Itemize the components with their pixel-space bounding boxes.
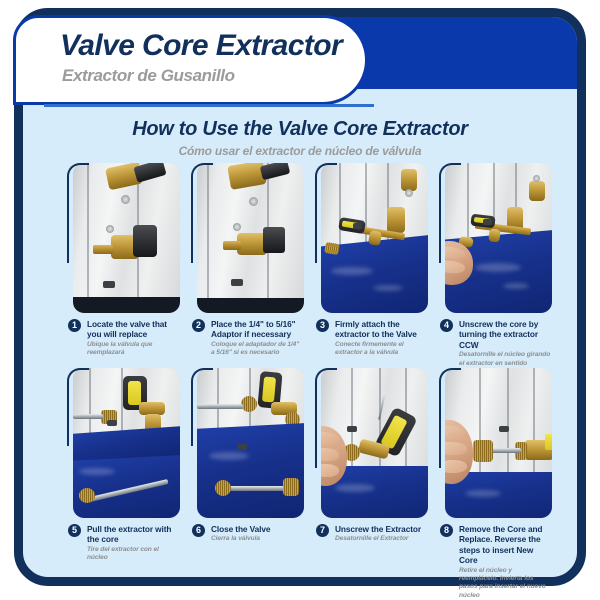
step-5-photo — [73, 368, 180, 518]
photo-scene-pull-extractor — [73, 368, 180, 518]
step-5: 5 Pull the extractor with the core Tire … — [67, 368, 180, 570]
step-8-number: 8 — [440, 524, 453, 537]
step-7-photo-wrap — [315, 368, 428, 518]
step-5-text-es: Tire del extractor con el núcleo — [87, 546, 180, 562]
step-6-photo-wrap — [191, 368, 304, 518]
page-title-spanish: Extractor de Gusanillo — [62, 66, 235, 86]
step-8-caption: 8 Remove the Core and Replace. Reverse t… — [439, 524, 552, 600]
photo-scene-attach-extractor — [321, 163, 428, 313]
step-4: 4 Unscrew the core by turning the extrac… — [439, 163, 552, 376]
step-6-text-es: Cierra la válvula — [211, 535, 304, 543]
step-2: 2 Place the 1/4" to 5/16" Adaptor if nec… — [191, 163, 304, 365]
section-heading: How to Use the Valve Core Extractor — [23, 118, 577, 141]
step-5-text-en: Pull the extractor with the core — [87, 524, 180, 545]
photo-scene-adaptor — [197, 163, 304, 313]
step-3-text-en: Firmly attach the extractor to the Valve — [335, 319, 428, 340]
step-6-text-en: Close the Valve — [211, 524, 304, 534]
step-1-caption: 1 Locate the valve that you will replace… — [67, 319, 180, 365]
step-5-photo-wrap — [67, 368, 180, 518]
step-6-number: 6 — [192, 524, 205, 537]
step-7-text-en: Unscrew the Extractor — [335, 524, 428, 534]
photo-scene-unscrew-extractor — [321, 368, 428, 518]
step-4-photo — [445, 163, 552, 313]
step-8-photo-wrap — [439, 368, 552, 518]
step-1-text-es: Ubique la válvula que reemplazará — [87, 341, 180, 357]
step-4-photo-wrap — [439, 163, 552, 313]
step-6-caption: 6 Close the Valve Cierra la válvula — [191, 524, 304, 570]
step-3-photo — [321, 163, 428, 313]
step-1-photo-wrap — [67, 163, 180, 313]
step-4-text-en: Unscrew the core by turning the extracto… — [459, 319, 552, 350]
step-2-number: 2 — [192, 319, 205, 332]
step-8-text-es: Retire el núcleo y reemplácelo. Invierta… — [459, 567, 552, 600]
step-2-photo — [197, 163, 304, 313]
photo-scene-remove-core — [445, 368, 552, 518]
step-1: 1 Locate the valve that you will replace… — [67, 163, 180, 365]
step-7-photo — [321, 368, 428, 518]
steps-grid: 1 Locate the valve that you will replace… — [67, 163, 551, 573]
steps-row-1: 1 Locate the valve that you will replace… — [67, 163, 551, 368]
step-1-photo — [73, 163, 180, 313]
step-1-number: 1 — [68, 319, 81, 332]
step-3: 3 Firmly attach the extractor to the Val… — [315, 163, 428, 365]
step-2-caption: 2 Place the 1/4" to 5/16" Adaptor if nec… — [191, 319, 304, 365]
photo-scene-valve-closeup — [73, 163, 180, 313]
step-2-photo-wrap — [191, 163, 304, 313]
step-7-number: 7 — [316, 524, 329, 537]
step-3-caption: 3 Firmly attach the extractor to the Val… — [315, 319, 428, 365]
step-6-photo — [197, 368, 304, 518]
step-8-photo — [445, 368, 552, 518]
step-3-text-es: Conecte firmemente el extractor a la vál… — [335, 341, 428, 357]
step-2-text-en: Place the 1/4" to 5/16" Adaptor if neces… — [211, 319, 304, 340]
step-7-text-es: Desatornille el Extractor — [335, 535, 428, 543]
step-5-number: 5 — [68, 524, 81, 537]
step-8-text-en: Remove the Core and Replace. Reverse the… — [459, 524, 552, 566]
step-1-text-en: Locate the valve that you will replace — [87, 319, 180, 340]
step-8: 8 Remove the Core and Replace. Reverse t… — [439, 368, 552, 600]
section-heading-spanish: Cómo usar el extractor de núcleo de válv… — [23, 144, 577, 158]
page-title: Valve Core Extractor — [60, 29, 342, 63]
poster-root: Valve Core Extractor Extractor de Gusani… — [0, 0, 600, 600]
title-pill: Valve Core Extractor Extractor de Gusani… — [13, 15, 368, 105]
step-6: 6 Close the Valve Cierra la válvula — [191, 368, 304, 570]
step-7: 7 Unscrew the Extractor Desatornille el … — [315, 368, 428, 570]
step-4-number: 4 — [440, 319, 453, 332]
step-3-photo-wrap — [315, 163, 428, 313]
step-3-number: 3 — [316, 319, 329, 332]
title-divider — [44, 104, 374, 107]
poster-frame: Valve Core Extractor Extractor de Gusani… — [14, 8, 586, 586]
step-2-text-es: Coloque el adaptador de 1/4" a 5/16" si … — [211, 341, 304, 357]
step-7-caption: 7 Unscrew the Extractor Desatornille el … — [315, 524, 428, 570]
photo-scene-close-valve — [197, 368, 304, 518]
photo-scene-unscrew-core — [445, 163, 552, 313]
steps-row-2: 5 Pull the extractor with the core Tire … — [67, 368, 551, 573]
step-5-caption: 5 Pull the extractor with the core Tire … — [67, 524, 180, 570]
